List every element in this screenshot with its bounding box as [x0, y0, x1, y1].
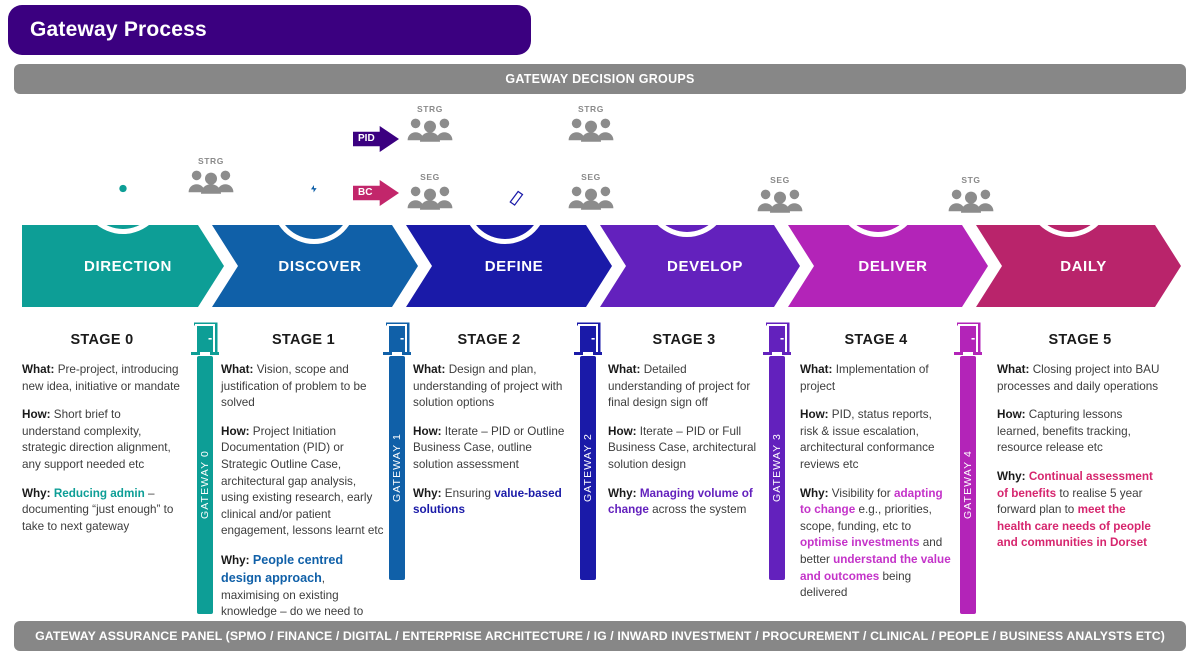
stage-title: STAGE 0	[22, 332, 182, 348]
stage-body: What: Closing project into BAU processes…	[997, 362, 1163, 552]
decision-group-stg: STG	[943, 175, 999, 213]
gateway-bar: GATEWAY 2	[580, 356, 596, 580]
decision-group-strg-2: STRG	[563, 104, 619, 142]
people-group-icon	[567, 184, 615, 210]
phase-label: DIRECTION	[84, 258, 172, 275]
stage-why: Why: Managing volume of change across th…	[608, 486, 760, 519]
group-tag-label: STRG	[563, 104, 619, 114]
people-group-icon	[756, 187, 804, 213]
arrow-pid-label: PID	[358, 134, 375, 144]
arrow-bc: BC	[353, 180, 399, 206]
gateway-0[interactable]: GATEWAY 0	[190, 322, 220, 614]
phase-chevron-develop[interactable]: DEVELOP	[600, 225, 800, 307]
stage-title: STAGE 1	[221, 332, 386, 348]
gateway-label: GATEWAY 0	[199, 450, 211, 519]
stage-how: How: Short brief to understand complexit…	[22, 407, 182, 473]
people-group-icon	[406, 184, 454, 210]
phase-label: DEVELOP	[667, 258, 743, 275]
stage-why: Why: Continual assessment of benefits to…	[997, 469, 1163, 552]
page-title-banner: Gateway Process	[8, 5, 531, 55]
decision-group-strg-1: STRG	[402, 104, 458, 142]
decision-group-seg-2: SEG	[563, 172, 619, 210]
tools-icon	[857, 174, 899, 216]
gateway-bar: GATEWAY 0	[197, 356, 213, 614]
gateway-assurance-panel-label: GATEWAY ASSURANCE PANEL (SPMO / FINANCE …	[35, 629, 1165, 643]
phase-icon-direction	[86, 155, 160, 229]
phase-label: DELIVER	[858, 258, 927, 275]
group-tag-label: STG	[943, 175, 999, 185]
phase-icon-discover	[277, 165, 351, 239]
stage-how: How: Capturing lessons learned, benefits…	[997, 407, 1163, 457]
phase-chevron-direction[interactable]: DIRECTION	[22, 225, 224, 307]
door-icon	[762, 322, 792, 356]
gateway-bar: GATEWAY 4	[960, 356, 976, 614]
page-title: Gateway Process	[30, 18, 207, 42]
stage-how: How: Iterate – PID or Full Business Case…	[608, 424, 760, 474]
gateway-label: GATEWAY 2	[582, 433, 594, 502]
stage-column-1: STAGE 1 What: Vision, scope and justific…	[221, 332, 386, 638]
phase-icon-define	[468, 165, 542, 239]
phase-icon-develop	[650, 158, 724, 232]
blueprint-pencil-icon	[484, 181, 526, 223]
decision-group-strg-0: STRG	[183, 156, 239, 194]
stage-what: What: Vision, scope and justification of…	[221, 362, 386, 412]
gateway-3[interactable]: GATEWAY 3	[762, 322, 792, 580]
checklist-icon	[666, 174, 708, 216]
gateway-2[interactable]: GATEWAY 2	[573, 322, 603, 580]
stage-title: STAGE 2	[413, 332, 565, 348]
people-group-icon	[567, 116, 615, 142]
stage-why: Why: Ensuring value-based solutions	[413, 486, 565, 519]
stage-why-highlight: Reducing admin	[54, 487, 145, 500]
stage-how: How: PID, status reports, risk & issue e…	[800, 407, 952, 473]
stage-column-5: STAGE 5 What: Closing project into BAU p…	[997, 332, 1163, 552]
lightbulb-people-icon	[293, 181, 335, 223]
stage-body: What: Pre-project, introducing new idea,…	[22, 362, 182, 535]
stage-what: What: Implementation of project	[800, 362, 952, 395]
arrow-bc-label: BC	[358, 188, 372, 198]
stage-title: STAGE 5	[997, 332, 1163, 348]
gateway-label: GATEWAY 1	[391, 433, 403, 502]
arrow-pid: PID	[353, 126, 399, 152]
stage-title: STAGE 4	[800, 332, 952, 348]
decision-group-seg-3: SEG	[752, 175, 808, 213]
group-tag-label: STRG	[402, 104, 458, 114]
phase-chevron-band: DIRECTION DISCOVER DEFINE DEVELOP DELIVE…	[0, 225, 1200, 307]
gateway-bar: GATEWAY 1	[389, 356, 405, 580]
door-icon	[573, 322, 603, 356]
door-icon	[382, 322, 412, 356]
stage-column-3: STAGE 3 What: Detailed understanding of …	[608, 332, 760, 519]
stage-column-0: STAGE 0 What: Pre-project, introducing n…	[22, 332, 182, 535]
stage-how: How: Iterate – PID or Outline Business C…	[413, 424, 565, 474]
group-tag-label: SEG	[563, 172, 619, 182]
gateway-bar: GATEWAY 3	[769, 356, 785, 580]
gateway-4[interactable]: GATEWAY 4	[953, 322, 983, 614]
door-icon-glyph	[762, 322, 792, 356]
gateway-decision-groups-label: GATEWAY DECISION GROUPS	[505, 72, 694, 86]
decision-group-seg-1: SEG	[402, 172, 458, 210]
phase-label: DAILY	[1060, 258, 1107, 275]
stage-body: What: Design and plan, understanding of …	[413, 362, 565, 519]
stage-title: STAGE 3	[608, 332, 760, 348]
stage-column-4: STAGE 4 What: Implementation of project …	[800, 332, 952, 602]
stage-what: What: Pre-project, introducing new idea,…	[22, 362, 182, 395]
stage-what: What: Detailed understanding of project …	[608, 362, 760, 412]
door-icon	[190, 322, 220, 356]
stage-what: What: Closing project into BAU processes…	[997, 362, 1163, 395]
stage-how: How: Project Initiation Documentation (P…	[221, 424, 386, 540]
line-chart-icon	[1048, 174, 1090, 216]
gateway-label: GATEWAY 3	[771, 433, 783, 502]
door-icon-glyph	[573, 322, 603, 356]
phase-label: DEFINE	[485, 258, 544, 275]
stage-why: Why: Visibility for adapting to change e…	[800, 486, 952, 602]
phase-chevron-daily[interactable]: DAILY	[976, 225, 1181, 307]
stage-column-2: STAGE 2 What: Design and plan, understan…	[413, 332, 565, 519]
people-group-icon	[187, 168, 235, 194]
group-tag-label: SEG	[402, 172, 458, 182]
group-tag-label: STRG	[183, 156, 239, 166]
people-group-icon	[947, 187, 995, 213]
stage-what: What: Design and plan, understanding of …	[413, 362, 565, 412]
stage-body: What: Implementation of project How: PID…	[800, 362, 952, 602]
phase-label: DISCOVER	[278, 258, 361, 275]
stage-body: What: Detailed understanding of project …	[608, 362, 760, 519]
phase-icon-daily	[1032, 158, 1106, 232]
people-group-icon	[406, 116, 454, 142]
gateway-assurance-panel-bar: GATEWAY ASSURANCE PANEL (SPMO / FINANCE …	[14, 621, 1186, 651]
gateway-label: GATEWAY 4	[962, 450, 974, 519]
group-tag-label: SEG	[752, 175, 808, 185]
stage-why: Why: Reducing admin – documenting “just …	[22, 486, 182, 536]
door-icon-glyph	[953, 322, 983, 356]
phase-icon-deliver	[841, 158, 915, 232]
door-icon	[953, 322, 983, 356]
gateway-1[interactable]: GATEWAY 1	[382, 322, 412, 580]
stage-why-highlight-2: optimise investments	[800, 536, 920, 549]
door-icon-glyph	[382, 322, 412, 356]
door-icon-glyph	[190, 322, 220, 356]
gateway-decision-groups-bar: GATEWAY DECISION GROUPS	[14, 64, 1186, 94]
phase-chevron-deliver[interactable]: DELIVER	[788, 225, 988, 307]
lightbulb-gear-icon	[102, 171, 144, 213]
stage-body: What: Vision, scope and justification of…	[221, 362, 386, 638]
